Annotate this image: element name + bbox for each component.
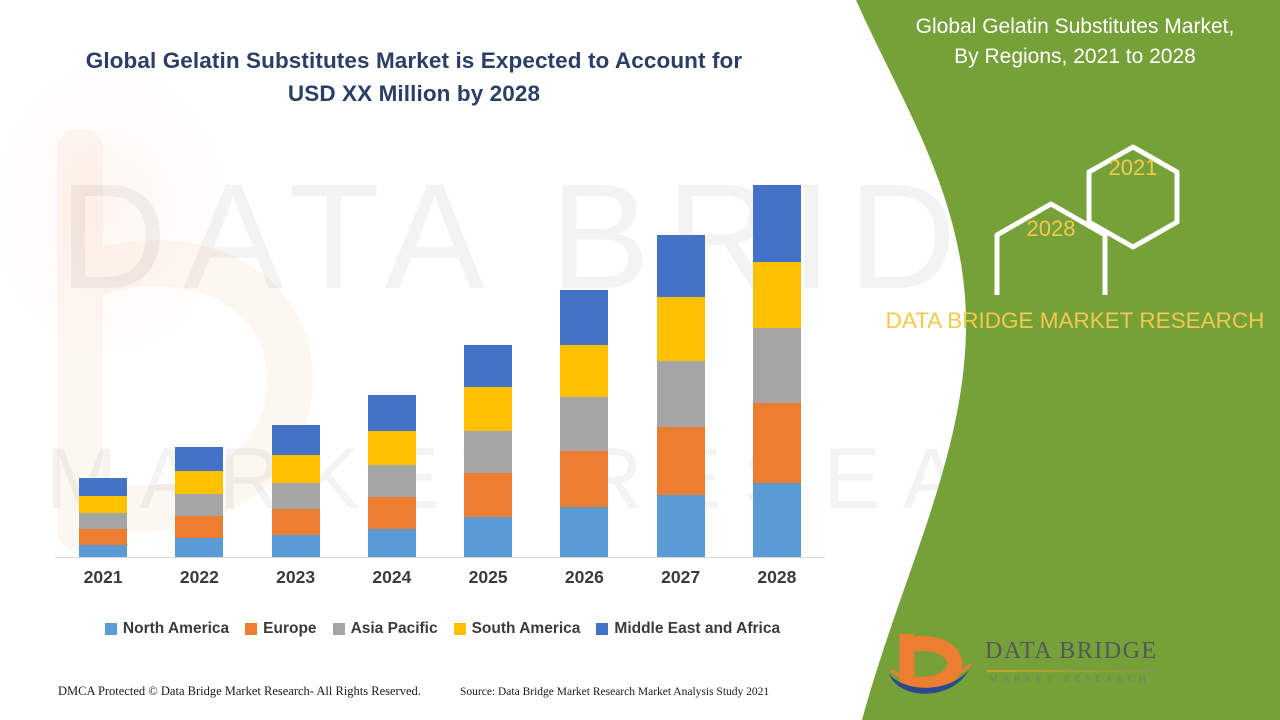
bar-2028	[753, 185, 801, 557]
legend-item: South America	[454, 620, 581, 638]
bar-segment	[272, 535, 320, 557]
bar-segment	[272, 425, 320, 455]
footer-copyright: DMCA Protected © Data Bridge Market Rese…	[58, 684, 421, 699]
bar-segment	[657, 427, 705, 495]
footer-source: Source: Data Bridge Market Research Mark…	[460, 686, 769, 698]
hexagon-label-front: 2021	[1073, 155, 1193, 181]
bar-2021	[79, 478, 127, 557]
bar-segment	[368, 465, 416, 497]
logo-divider	[987, 670, 1159, 672]
data-bridge-b-icon	[885, 630, 981, 698]
legend-item: Middle East and Africa	[596, 620, 780, 638]
legend-swatch	[454, 623, 466, 635]
bar-segment	[79, 496, 127, 513]
bar-segment	[657, 495, 705, 557]
panel-brand-text: DATA BRIDGE MARKET RESEARCH	[885, 305, 1265, 338]
bar-segment	[753, 262, 801, 328]
legend-label: Middle East and Africa	[614, 620, 780, 638]
bar-segment	[657, 361, 705, 427]
legend-label: South America	[472, 620, 581, 638]
hexagon-outlines-icon	[845, 130, 1280, 295]
bar-segment	[368, 395, 416, 431]
x-axis-line	[55, 557, 825, 558]
bar-segment	[560, 507, 608, 557]
bar-segment	[753, 483, 801, 557]
bar-segment	[175, 447, 223, 471]
hexagon-group: 2028 2021	[845, 130, 1280, 295]
x-axis-label-2026: 2026	[536, 567, 632, 588]
bar-segment	[368, 529, 416, 557]
legend-swatch	[333, 623, 345, 635]
bar-segment	[464, 387, 512, 431]
legend-swatch	[105, 623, 117, 635]
bar-segment	[272, 483, 320, 509]
bar-segment	[560, 345, 608, 397]
bar-segment	[272, 455, 320, 483]
bar-segment	[175, 538, 223, 557]
legend-swatch	[245, 623, 257, 635]
legend-item: Europe	[245, 620, 316, 638]
bar-segment	[753, 185, 801, 262]
x-axis-label-2021: 2021	[55, 567, 151, 588]
x-axis-label-2025: 2025	[440, 567, 536, 588]
bar-segment	[753, 403, 801, 483]
bar-segment	[464, 431, 512, 473]
brand-logo: DATA BRIDGE MARKET RESEARCH	[885, 630, 1185, 702]
bar-segment	[272, 509, 320, 535]
bar-2023	[272, 425, 320, 557]
infographic-canvas: DATA BRIDGE MARKET RESEARCH Global Gelat…	[0, 0, 1280, 720]
legend-item: Asia Pacific	[333, 620, 438, 638]
bar-segment	[175, 516, 223, 538]
x-axis-label-2027: 2027	[633, 567, 729, 588]
bar-segment	[79, 478, 127, 496]
bar-segment	[560, 290, 608, 345]
bar-2022	[175, 447, 223, 557]
bar-segment	[560, 397, 608, 451]
x-axis-label-2022: 2022	[151, 567, 247, 588]
bar-2026	[560, 290, 608, 557]
x-axis-label-2028: 2028	[729, 567, 825, 588]
bar-segment	[464, 473, 512, 517]
legend-label: North America	[123, 620, 229, 638]
chart-title: Global Gelatin Substitutes Market is Exp…	[64, 45, 764, 110]
bar-segment	[560, 451, 608, 507]
panel-title: Global Gelatin Substitutes Market, By Re…	[905, 12, 1245, 72]
legend-label: Asia Pacific	[351, 620, 438, 638]
x-axis-labels: 20212022202320242025202620272028	[55, 567, 825, 595]
bar-segment	[175, 471, 223, 494]
legend-item: North America	[105, 620, 229, 638]
bar-segment	[368, 497, 416, 529]
logo-tagline: MARKET RESEARCH	[989, 674, 1150, 685]
bar-segment	[464, 517, 512, 557]
bar-segment	[464, 345, 512, 387]
x-axis-label-2023: 2023	[248, 567, 344, 588]
bar-2024	[368, 395, 416, 557]
bar-segment	[79, 529, 127, 545]
bar-segment	[79, 513, 127, 529]
logo-wordmark: DATA BRIDGE	[985, 638, 1158, 665]
bar-segment	[79, 545, 127, 557]
stacked-bar-group	[55, 150, 825, 557]
bar-2025	[464, 345, 512, 557]
chart-legend: North AmericaEuropeAsia PacificSouth Ame…	[55, 617, 830, 641]
panel-content: Global Gelatin Substitutes Market, By Re…	[845, 0, 1280, 720]
bar-segment	[657, 235, 705, 297]
legend-label: Europe	[263, 620, 316, 638]
x-axis-label-2024: 2024	[344, 567, 440, 588]
bar-segment	[368, 431, 416, 465]
bar-segment	[753, 328, 801, 403]
bar-segment	[175, 494, 223, 516]
legend-swatch	[596, 623, 608, 635]
bar-segment	[657, 297, 705, 361]
bar-2027	[657, 235, 705, 557]
hexagon-label-back: 2028	[991, 216, 1111, 242]
